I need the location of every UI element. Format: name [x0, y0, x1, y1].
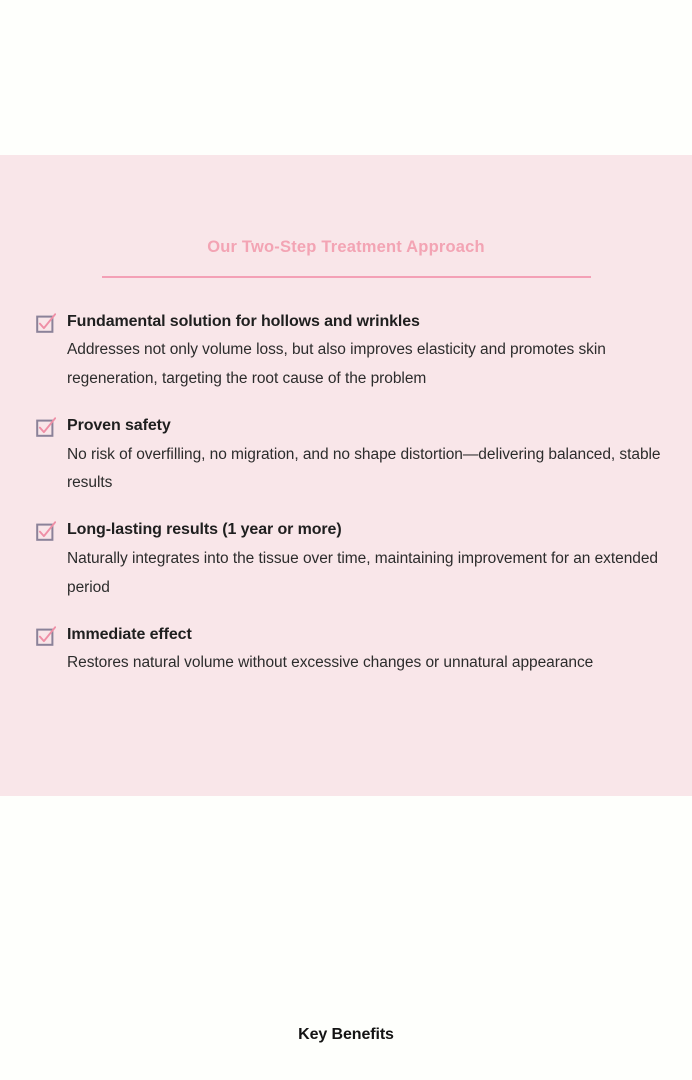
footer-caption: Key Benefits	[0, 1026, 692, 1044]
benefit-title: Proven safety	[67, 415, 678, 437]
list-item: Fundamental solution for hollows and wri…	[0, 311, 692, 394]
benefit-title: Long-lasting results (1 year or more)	[67, 519, 678, 541]
benefit-description: Addresses not only volume loss, but also…	[67, 336, 678, 394]
checked-checkbox-icon	[36, 417, 56, 437]
benefit-list: Fundamental solution for hollows and wri…	[0, 311, 692, 678]
heading-divider	[102, 276, 591, 278]
benefit-description: No risk of overfilling, no migration, an…	[67, 441, 678, 499]
list-item: Immediate effect Restores natural volume…	[0, 624, 692, 678]
key-benefits-panel: Our Two-Step Treatment Approach Fundamen…	[0, 155, 692, 796]
benefit-description: Naturally integrates into the tissue ove…	[67, 545, 678, 603]
bottom-whitespace: Key Benefits	[0, 796, 692, 1080]
panel-heading-block: Our Two-Step Treatment Approach	[0, 155, 692, 278]
list-item: Long-lasting results (1 year or more) Na…	[0, 519, 692, 602]
page-title: Our Two-Step Treatment Approach	[0, 238, 692, 258]
checked-checkbox-icon	[36, 521, 56, 541]
list-item: Proven safety No risk of overfilling, no…	[0, 415, 692, 498]
benefit-title: Immediate effect	[67, 624, 678, 646]
top-whitespace	[0, 0, 692, 155]
checked-checkbox-icon	[36, 313, 56, 333]
checked-checkbox-icon	[36, 626, 56, 646]
benefit-title: Fundamental solution for hollows and wri…	[67, 311, 678, 333]
benefit-description: Restores natural volume without excessiv…	[67, 649, 678, 678]
